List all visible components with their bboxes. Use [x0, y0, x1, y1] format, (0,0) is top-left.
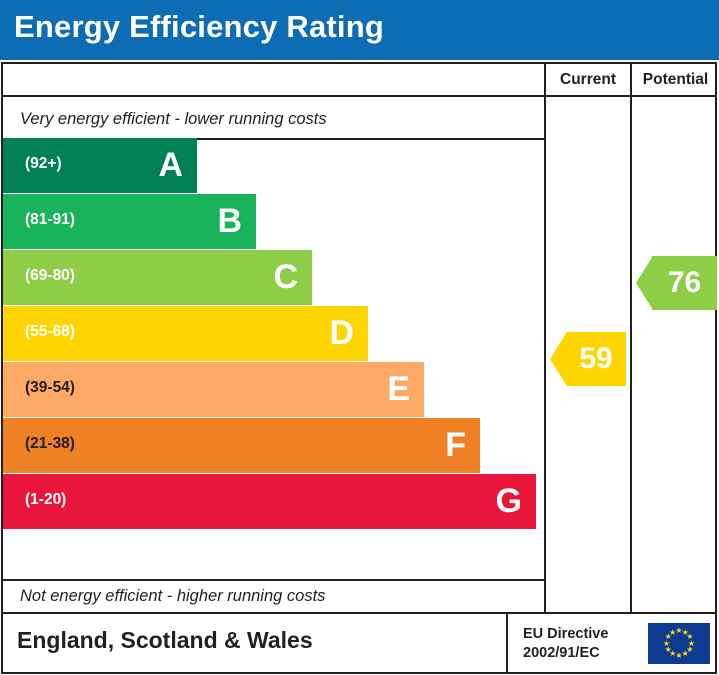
- band-f-range: (21-38): [25, 435, 75, 453]
- band-g: (1-20) G: [3, 474, 536, 529]
- band-b-range: (81-91): [25, 211, 75, 229]
- eu-directive-line1: EU Directive: [523, 625, 608, 644]
- potential-rating-value: 76: [652, 256, 717, 310]
- column-divider-current: [544, 64, 546, 612]
- footer-divider: [506, 614, 508, 672]
- band-c-range: (69-80): [25, 267, 75, 285]
- eu-directive-label: EU Directive 2002/91/EC: [523, 625, 608, 663]
- current-rating-value: 59: [566, 332, 626, 386]
- eu-flag-icon: ★★★★★★★★★★★★: [648, 623, 710, 664]
- band-f-letter: F: [445, 421, 466, 469]
- caption-bottom-divider: [3, 579, 544, 581]
- eu-flag-star: ★: [669, 629, 677, 637]
- column-header-row: Current Potential: [3, 64, 715, 97]
- column-header-current: Current: [546, 71, 630, 89]
- chart-footer: England, Scotland & Wales EU Directive 2…: [1, 614, 717, 674]
- band-g-range: (1-20): [25, 491, 66, 509]
- page-title: Energy Efficiency Rating: [14, 9, 384, 45]
- band-a: (92+) A: [3, 138, 197, 193]
- footer-region-label: England, Scotland & Wales: [17, 627, 313, 654]
- band-d-range: (55-68): [25, 323, 75, 341]
- band-b-letter: B: [217, 197, 242, 245]
- band-e-range: (39-54): [25, 379, 75, 397]
- caption-efficient: Very energy efficient - lower running co…: [20, 110, 327, 129]
- band-f: (21-38) F: [3, 418, 480, 473]
- band-a-range: (92+): [25, 155, 62, 173]
- band-e: (39-54) E: [3, 362, 424, 417]
- band-c-letter: C: [273, 253, 298, 301]
- column-divider-potential: [630, 64, 632, 612]
- potential-rating-marker: 76: [636, 256, 717, 310]
- column-header-potential: Potential: [632, 71, 719, 89]
- band-c: (69-80) C: [3, 250, 312, 305]
- band-b: (81-91) B: [3, 194, 256, 249]
- rating-bands: (92+) A (81-91) B (69-80) C (55-68) D (3…: [3, 138, 544, 579]
- energy-efficiency-certificate: Energy Efficiency Rating Current Potenti…: [0, 0, 719, 675]
- band-g-letter: G: [496, 477, 522, 525]
- band-d: (55-68) D: [3, 306, 368, 361]
- current-rating-arrow-tip: [550, 332, 567, 386]
- band-a-letter: A: [158, 141, 183, 189]
- caption-inefficient: Not energy efficient - higher running co…: [20, 587, 325, 606]
- chart-title-bar: Energy Efficiency Rating: [0, 0, 719, 60]
- eu-directive-line2: 2002/91/EC: [523, 644, 608, 663]
- potential-rating-arrow-tip: [636, 256, 653, 310]
- band-d-letter: D: [329, 309, 354, 357]
- band-e-letter: E: [387, 365, 410, 413]
- current-rating-marker: 59: [550, 332, 626, 386]
- chart-area: Current Potential Very energy efficient …: [1, 62, 717, 614]
